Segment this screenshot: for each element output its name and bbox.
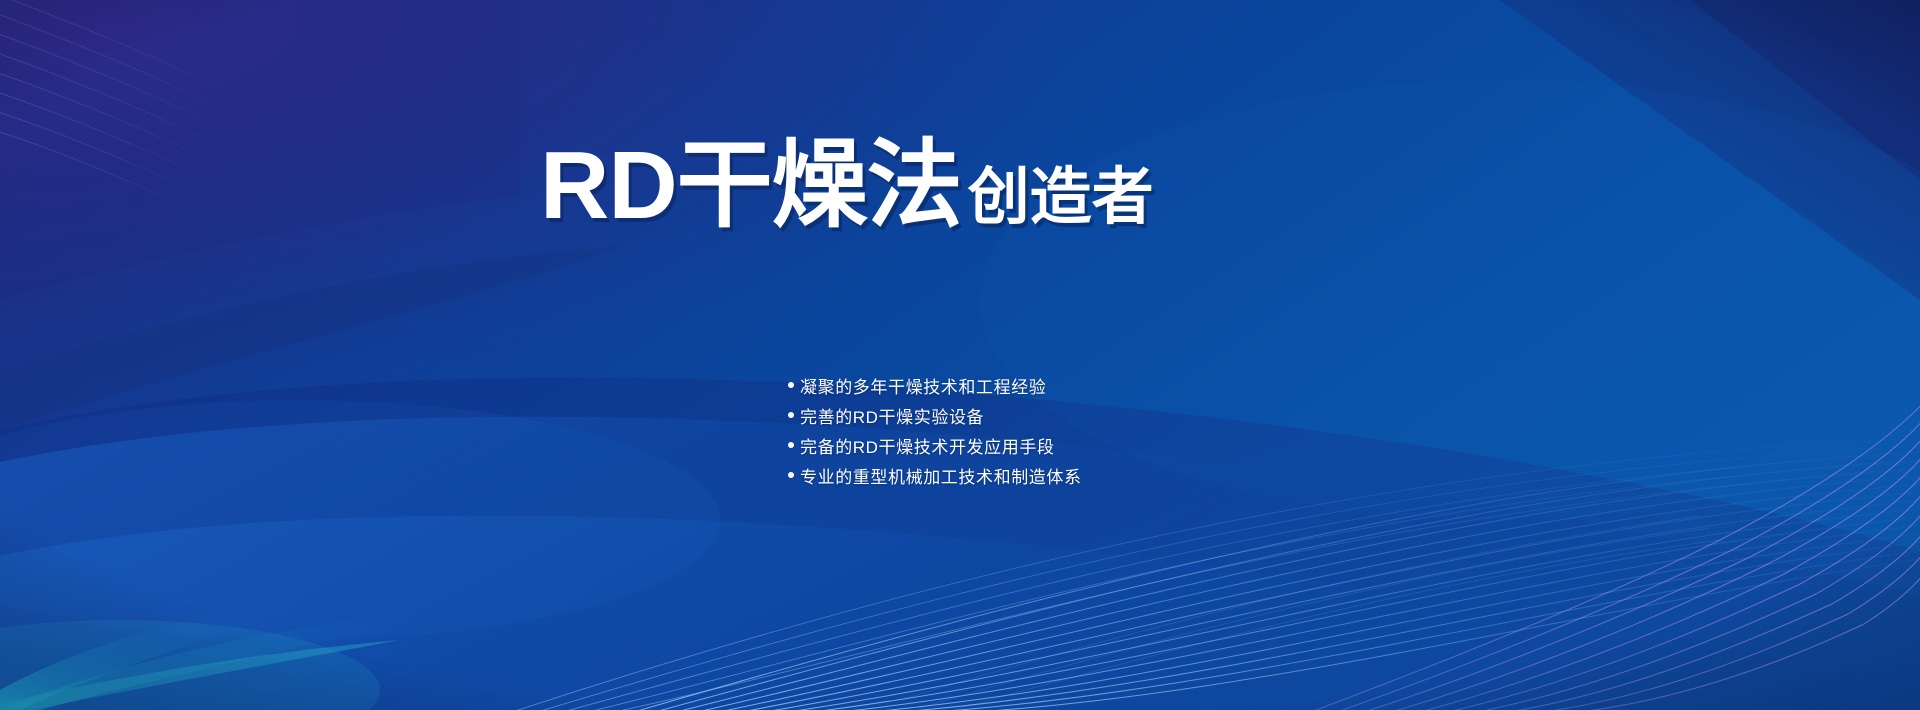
list-item-label: 完善的RD干燥实验设备 (800, 403, 984, 428)
list-item-label: 凝聚的多年干燥技术和工程经验 (800, 373, 1046, 398)
headline-secondary: 创造者 (968, 163, 1154, 232)
feature-list: 凝聚的多年干燥技术和工程经验 完善的RD干燥实验设备 完备的RD干燥技术开发应用… (788, 370, 1082, 490)
hero-banner: RD干燥法创造者 凝聚的多年干燥技术和工程经验 完善的RD干燥实验设备 完备的R… (0, 0, 1920, 710)
bullet-dot-icon (788, 442, 794, 448)
list-item-label: 专业的重型机械加工技术和制造体系 (800, 463, 1082, 488)
bullet-dot-icon (788, 472, 794, 478)
headline-primary: RD干燥法 (540, 132, 962, 239)
list-item: 凝聚的多年干燥技术和工程经验 (788, 370, 1082, 400)
list-item: 完备的RD干燥技术开发应用手段 (788, 430, 1082, 460)
list-item: 专业的重型机械加工技术和制造体系 (788, 460, 1082, 490)
list-item: 完善的RD干燥实验设备 (788, 400, 1082, 430)
page-title: RD干燥法创造者 (540, 138, 1154, 234)
list-item-label: 完备的RD干燥技术开发应用手段 (800, 433, 1055, 458)
bullet-dot-icon (788, 382, 794, 388)
banner-content: RD干燥法创造者 凝聚的多年干燥技术和工程经验 完善的RD干燥实验设备 完备的R… (0, 0, 1920, 710)
bullet-dot-icon (788, 412, 794, 418)
